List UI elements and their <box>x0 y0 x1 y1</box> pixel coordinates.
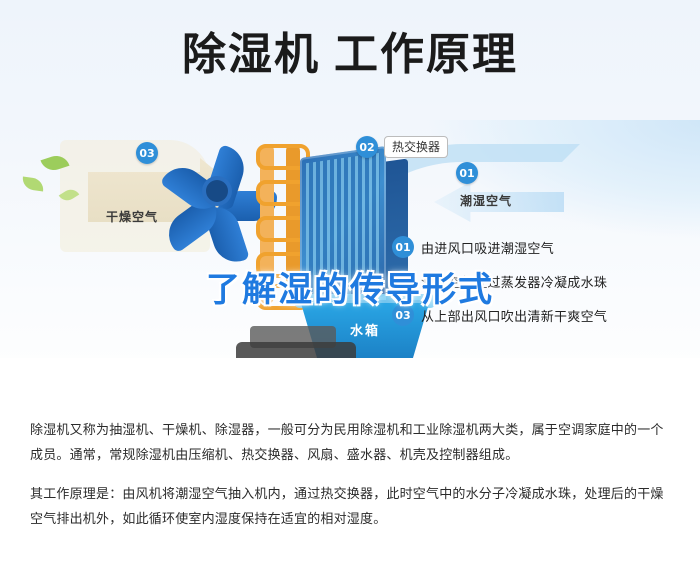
step-number: 01 <box>392 236 414 258</box>
step-text: 由进风口吸进潮湿空气 <box>421 238 554 257</box>
page-root: 除湿机工作原理 干燥空气 <box>0 0 700 566</box>
page-title: 除湿机工作原理 <box>0 28 700 82</box>
body-text: 除湿机又称为抽湿机、干燥机、除湿器，一般可分为民用除湿机和工业除湿机两大类，属于… <box>30 418 670 546</box>
page-title-part1: 除湿机 <box>182 29 320 80</box>
moist-air-label: 潮湿空气 <box>460 192 512 209</box>
water-tank-label: 水箱 <box>330 320 400 339</box>
badge-01: 01 <box>456 162 478 184</box>
paragraph-2: 其工作原理是：由风机将潮湿空气抽入机内，通过热交换器，此时空气中的水分子冷凝成水… <box>30 482 670 532</box>
page-title-part2: 工作原理 <box>334 29 518 80</box>
dry-air-label: 干燥空气 <box>106 208 158 225</box>
list-item: 01 由进风口吸进潮湿空气 <box>392 236 692 258</box>
badge-02: 02 <box>356 136 378 158</box>
badge-03: 03 <box>136 142 158 164</box>
overlay-headline: 了解湿的传导形式 <box>0 262 700 311</box>
machine-base <box>236 342 356 364</box>
leaf-icon <box>21 177 44 192</box>
paragraph-1: 除湿机又称为抽湿机、干燥机、除湿器，一般可分为民用除湿机和工业除湿机两大类，属于… <box>30 418 670 468</box>
heat-exchanger-tag: 热交换器 <box>384 136 448 158</box>
illustration-panel: 除湿机工作原理 干燥空气 <box>0 0 700 404</box>
